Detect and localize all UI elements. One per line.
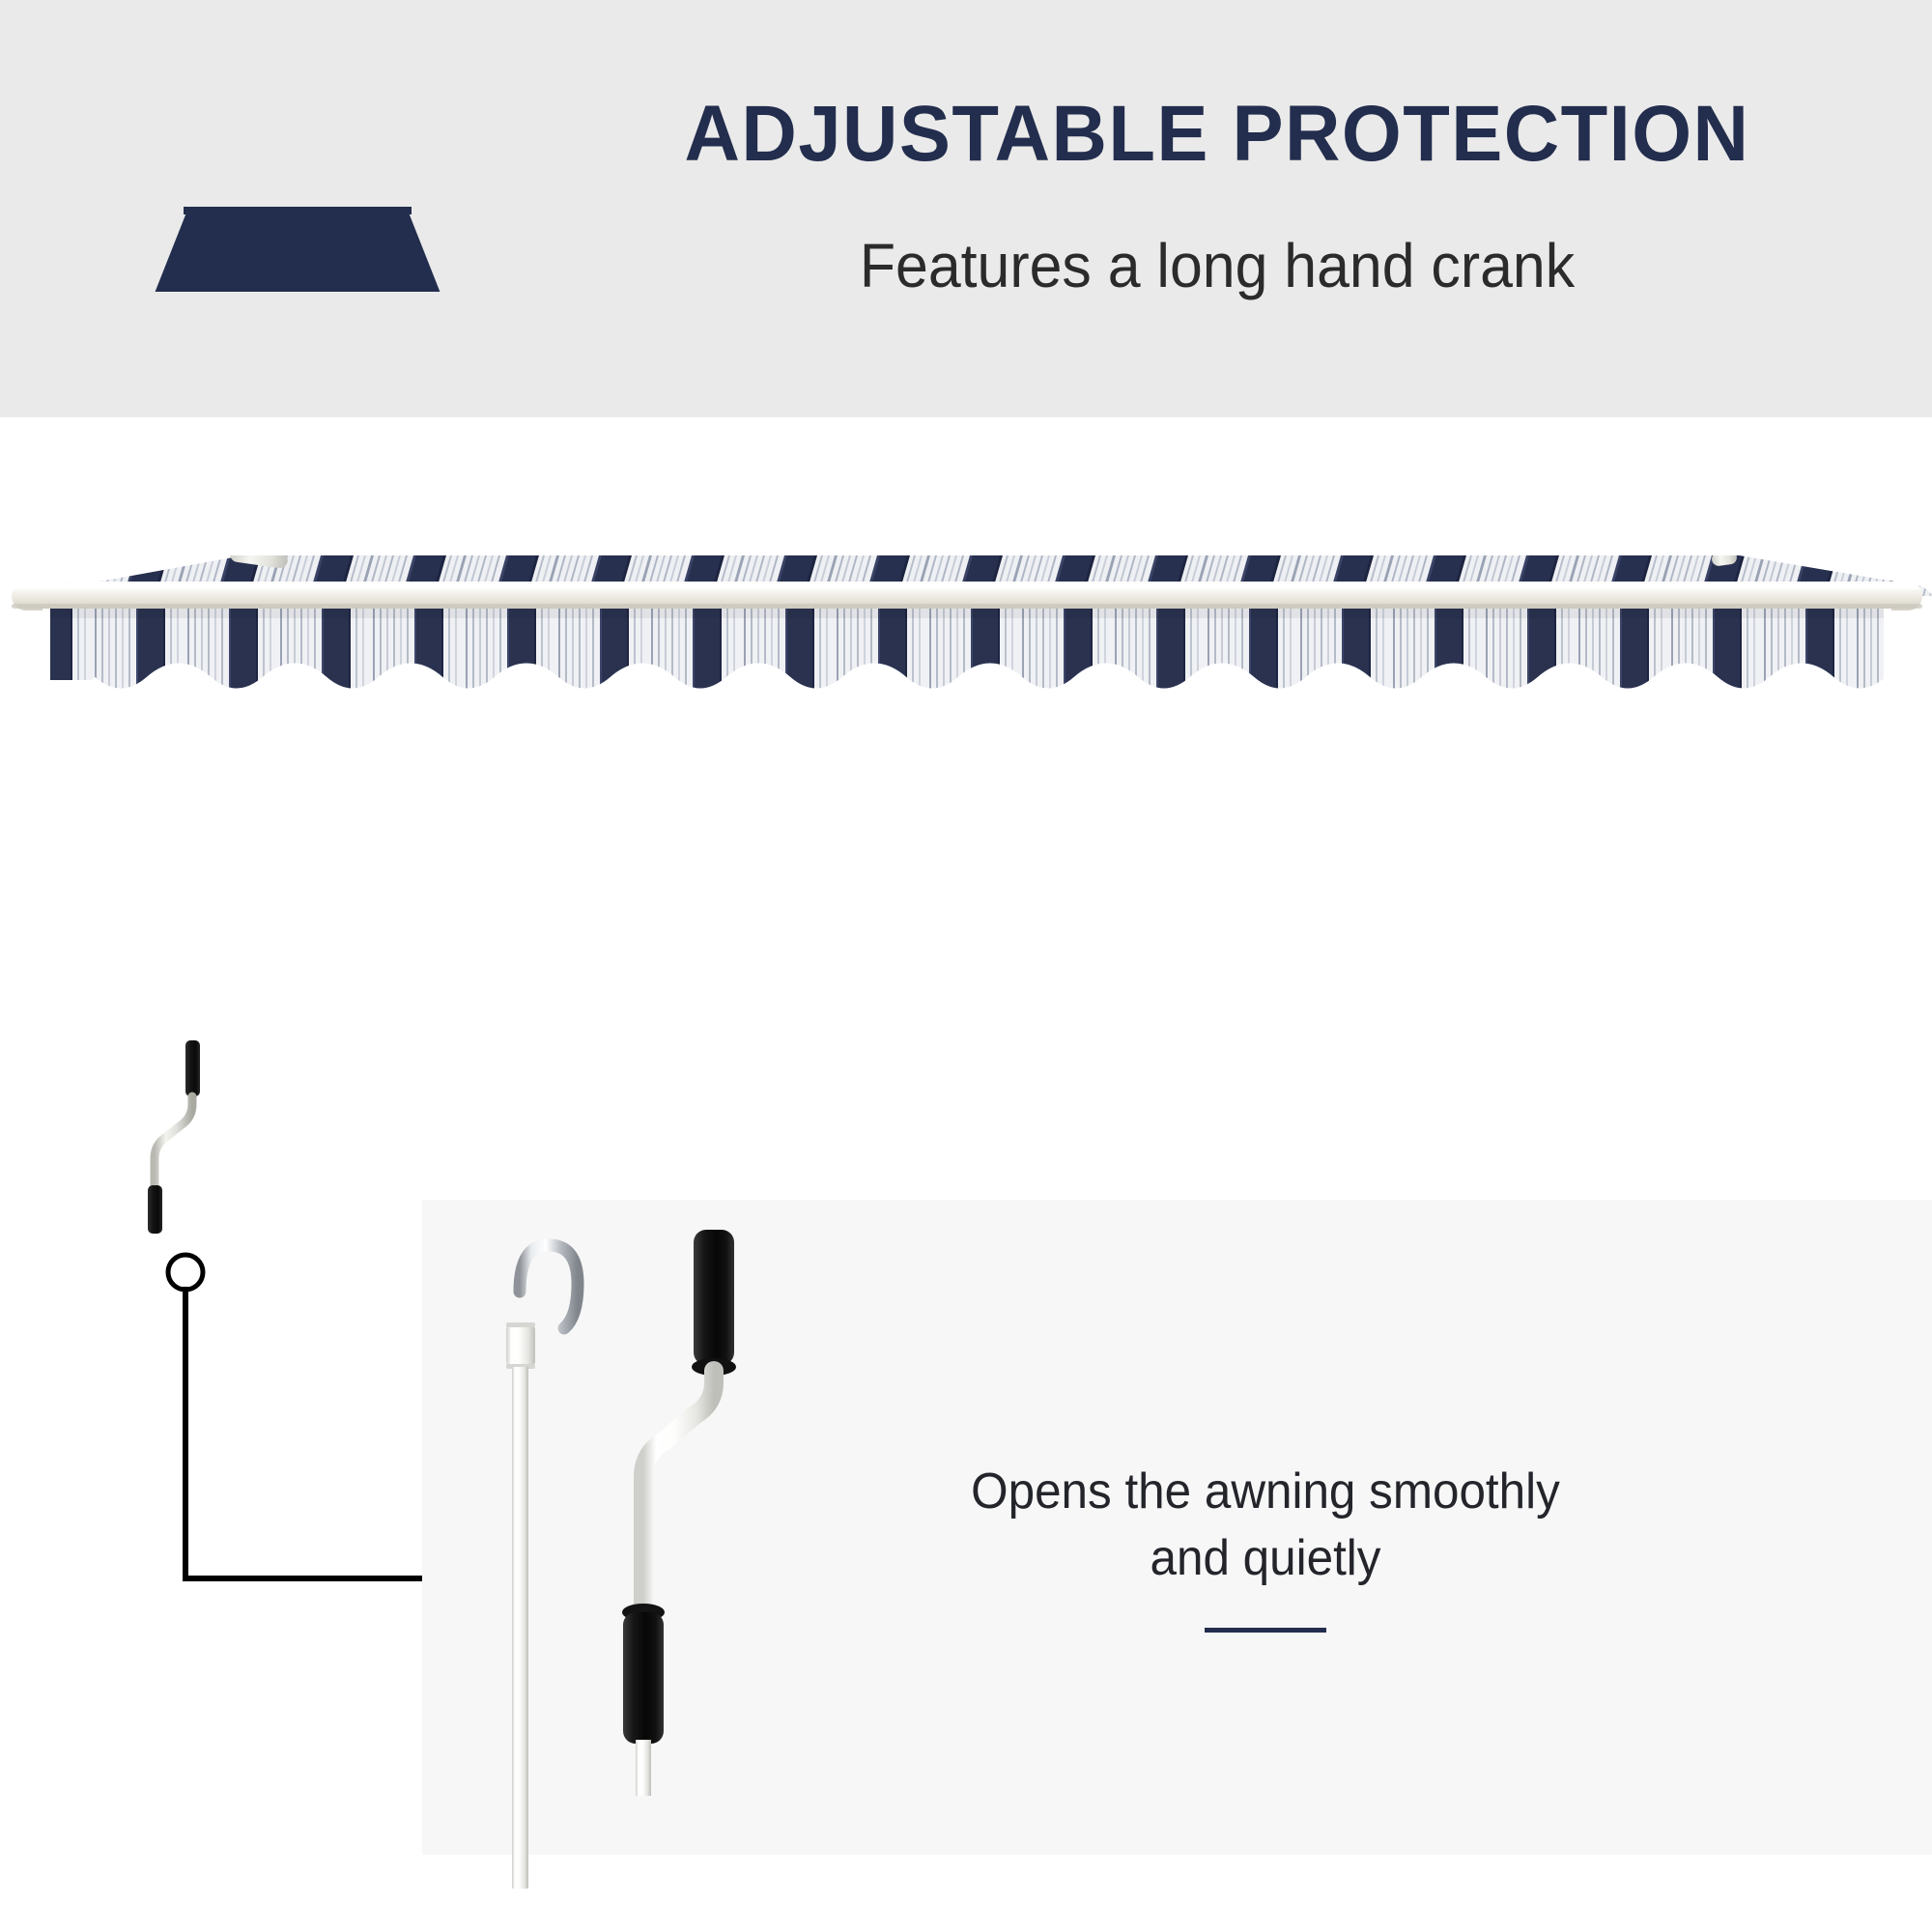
page-title: ADJUSTABLE PROTECTION [561,95,1873,174]
hand-crank-rod [116,826,309,1290]
page-subtitle: Features a long hand crank [575,235,1860,297]
caption-divider [1205,1628,1326,1633]
caption-line-2: and quietly [945,1525,1587,1592]
crank-handle [622,1230,736,1796]
crank-extension-rod [506,1245,578,1889]
header-band: ADJUSTABLE PROTECTION Features a long ha… [0,0,1932,417]
callout-circle-marker [168,1255,203,1290]
feature-caption: Opens the awning smoothly and quietly [927,1459,1604,1633]
awning-icon [90,207,503,296]
awning-valance [39,609,1903,715]
awning-front-bar [12,582,1922,611]
hand-crank-photo [473,1222,879,1889]
caption-line-1: Opens the awning smoothly [945,1459,1587,1525]
